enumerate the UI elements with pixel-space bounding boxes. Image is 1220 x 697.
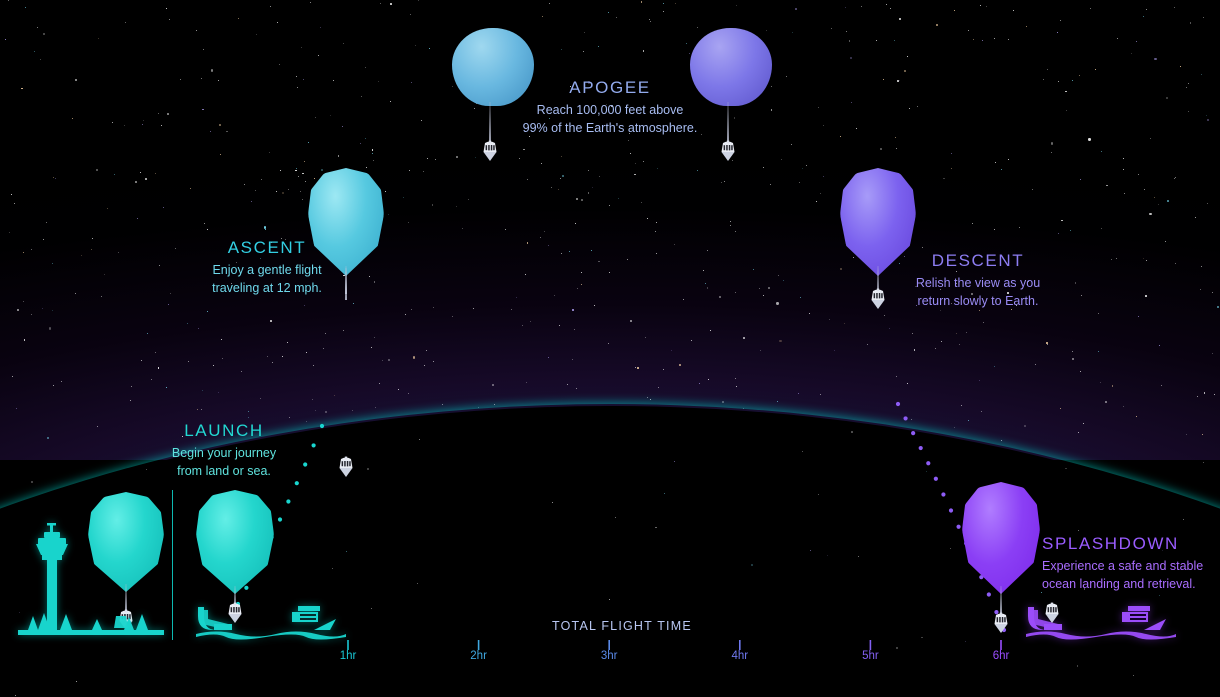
timeline-tick-4: 4hr — [728, 650, 752, 662]
timeline-tick-5: 5hr — [858, 650, 882, 662]
timeline-tick-1: 1hr — [336, 650, 360, 662]
infographic-canvas: LAUNCH Begin your journey from land or s… — [0, 0, 1220, 697]
timeline-tick-2: 2hr — [467, 650, 491, 662]
timeline-tick-3: 3hr — [597, 650, 621, 662]
timeline-tick-6: 6hr — [989, 650, 1013, 662]
timeline-axis — [0, 0, 1220, 697]
